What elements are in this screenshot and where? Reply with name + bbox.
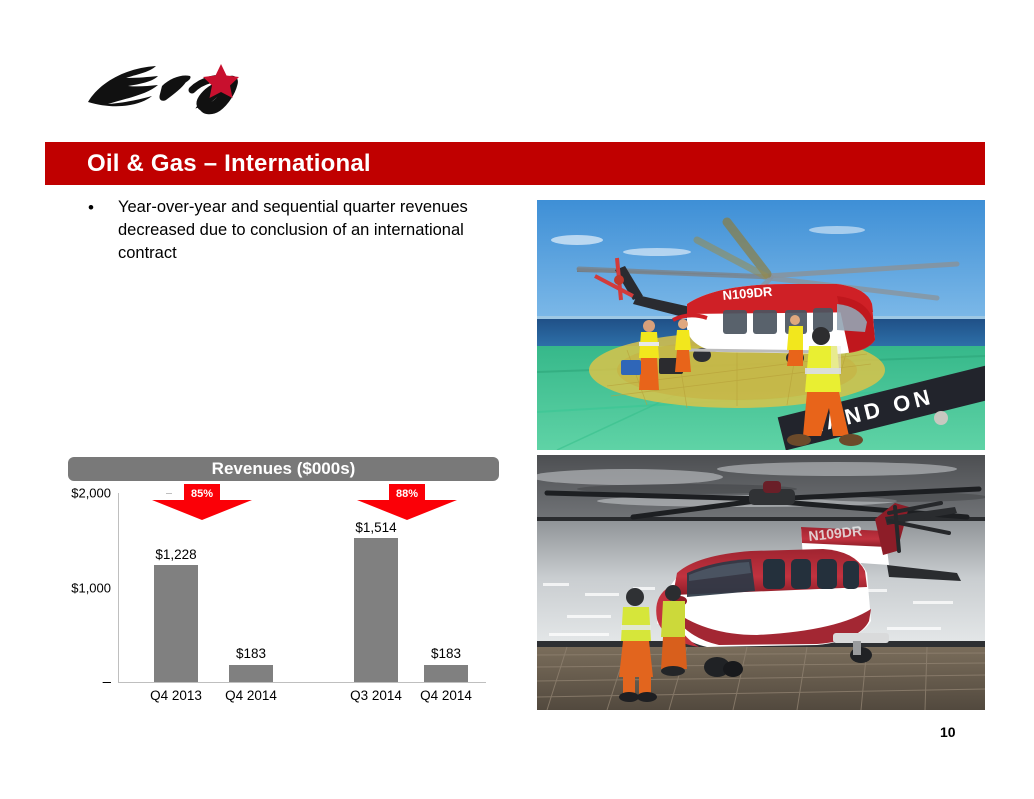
photo-helicopter-on-green-helideck: LAND ON [537, 200, 985, 450]
list-item: • Year-over-year and sequential quarter … [84, 196, 514, 265]
bullet-marker-icon: • [84, 196, 118, 220]
photo-bottom-svg: N109DR [537, 455, 985, 710]
decline-arrow-label: 85% [152, 488, 252, 500]
decline-arrow-85: 85% [152, 484, 252, 520]
bar-value-label: $183 [236, 646, 266, 661]
revenues-chart: Revenues ($000s) $2,000 $1,000 – $1,228 … [64, 457, 499, 710]
chart-plot-area: $2,000 $1,000 – $1,228 $183 $1,514 $183 … [64, 485, 499, 710]
slide-title-bar: Oil & Gas – International [45, 142, 985, 185]
photo-helicopter-on-overcast-helideck: N109DR [537, 455, 985, 710]
x-category-label: Q4 2013 [150, 688, 202, 703]
era-logo-svg [78, 56, 258, 118]
bar-q4-2014-seq [424, 665, 468, 682]
bullet-list: • Year-over-year and sequential quarter … [84, 196, 514, 265]
decline-arrow-88: 88% [357, 484, 457, 520]
decline-arrow-label: 88% [357, 488, 457, 500]
page-number: 10 [940, 724, 956, 740]
bar-q3-2014 [354, 538, 398, 682]
chart-title: Revenues ($000s) [68, 457, 499, 481]
y-tick-label: $2,000 [71, 486, 118, 501]
y-tick-label: $1,000 [71, 580, 118, 595]
bar-value-label: $1,228 [155, 547, 196, 562]
page-title: Oil & Gas – International [87, 150, 371, 178]
era-logo [78, 56, 258, 118]
bar-q4-2013 [154, 565, 198, 682]
x-category-label: Q4 2014 [420, 688, 472, 703]
bar-value-label: $1,514 [355, 520, 396, 535]
bar-q4-2014-yoy [229, 665, 273, 682]
photo-top-svg: LAND ON [537, 200, 985, 450]
y-tick-label: – [103, 674, 118, 691]
x-axis-line [118, 682, 486, 683]
x-category-label: Q4 2014 [225, 688, 277, 703]
y-axis-line [118, 493, 119, 683]
bullet-text: Year-over-year and sequential quarter re… [118, 196, 514, 265]
x-category-label: Q3 2014 [350, 688, 402, 703]
bar-value-label: $183 [431, 646, 461, 661]
